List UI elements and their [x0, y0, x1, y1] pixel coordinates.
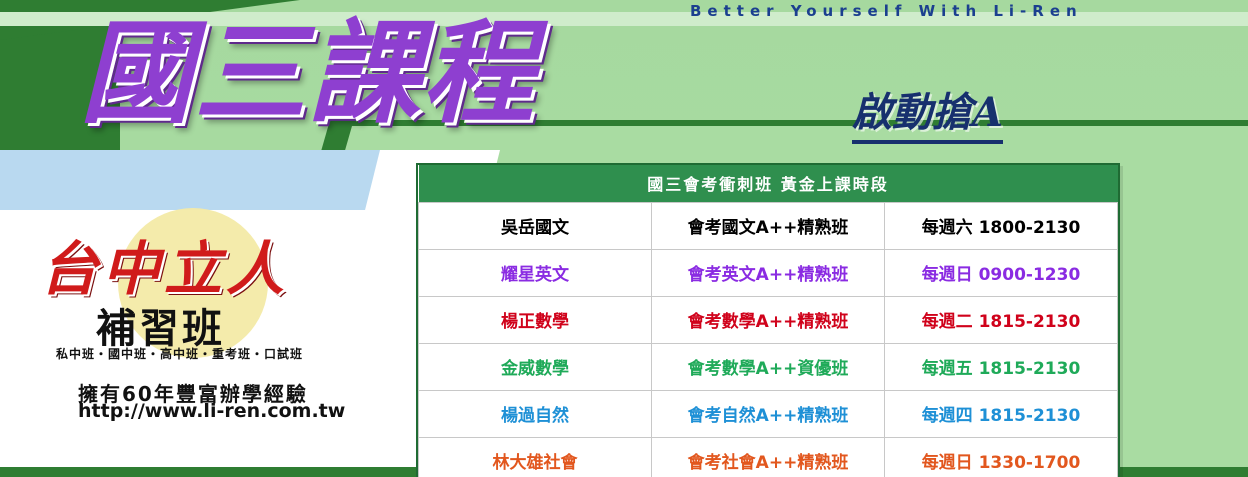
table-cell-course: 會考數學A++資優班 [652, 344, 885, 391]
table-cell-teacher: 耀星英文 [419, 250, 652, 297]
background-blue-wedge [0, 150, 380, 210]
table-cell-course: 會考自然A++精熟班 [652, 391, 885, 438]
table-body: 吳岳國文會考國文A++精熟班每週六 1800-2130耀星英文會考英文A++精熟… [419, 203, 1118, 477]
table-cell-time: 每週日 1330-1700 [885, 438, 1118, 477]
subtitle: 啟動搶A [852, 80, 1003, 144]
table-cell-teacher: 楊正數學 [419, 297, 652, 344]
table-cell-course: 會考社會A++精熟班 [652, 438, 885, 477]
page-title: 國三課程 [80, 18, 536, 130]
schedule-table: 國三會考衝刺班 黃金上課時段 吳岳國文會考國文A++精熟班每週六 1800-21… [418, 165, 1118, 477]
table-cell-teacher: 林大雄社會 [419, 438, 652, 477]
table-row: 耀星英文會考英文A++精熟班每週日 0900-1230 [419, 250, 1118, 297]
logo-course-list: 私中班・國中班・高中班・重考班・口試班 [56, 345, 303, 362]
poster-root: Better Yourself With Li-Ren 國三課程 啟動搶A 台中… [0, 0, 1248, 477]
table-cell-time: 每週二 1815-2130 [885, 297, 1118, 344]
table-cell-time: 每週六 1800-2130 [885, 203, 1118, 250]
table-cell-teacher: 吳岳國文 [419, 203, 652, 250]
table-cell-time: 每週五 1815-2130 [885, 344, 1118, 391]
table-cell-teacher: 金威數學 [419, 344, 652, 391]
table-row: 金威數學會考數學A++資優班每週五 1815-2130 [419, 344, 1118, 391]
tagline: Better Yourself With Li-Ren [690, 2, 1240, 20]
table-cell-course: 會考英文A++精熟班 [652, 250, 885, 297]
table-row: 楊正數學會考數學A++精熟班每週二 1815-2130 [419, 297, 1118, 344]
table-row: 林大雄社會會考社會A++精熟班每週日 1330-1700 [419, 438, 1118, 477]
schedule-table-container: 國三會考衝刺班 黃金上課時段 吳岳國文會考國文A++精熟班每週六 1800-21… [416, 163, 1120, 477]
table-cell-time: 每週四 1815-2130 [885, 391, 1118, 438]
logo-name: 台中立人 [40, 222, 288, 306]
table-cell-teacher: 楊過自然 [419, 391, 652, 438]
table-cell-course: 會考國文A++精熟班 [652, 203, 885, 250]
logo-website-url: http://www.li-ren.com.tw [78, 400, 345, 422]
table-cell-time: 每週日 0900-1230 [885, 250, 1118, 297]
table-header-row: 國三會考衝刺班 黃金上課時段 [419, 165, 1118, 203]
table-header-title: 國三會考衝刺班 黃金上課時段 [419, 165, 1118, 203]
table-row: 吳岳國文會考國文A++精熟班每週六 1800-2130 [419, 203, 1118, 250]
table-row: 楊過自然會考自然A++精熟班每週四 1815-2130 [419, 391, 1118, 438]
table-cell-course: 會考數學A++精熟班 [652, 297, 885, 344]
